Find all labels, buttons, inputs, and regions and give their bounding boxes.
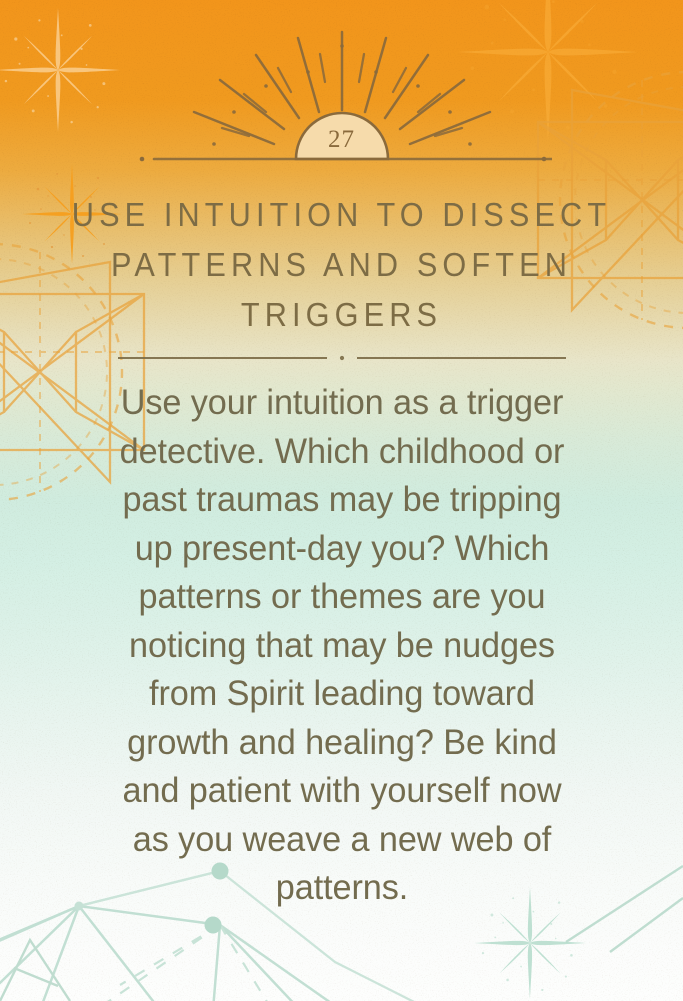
card-body: Use your intuition as a trigger detectiv… [105, 378, 580, 912]
card-title: USE INTUITION TO DISSECT PATTERNS AND SO… [61, 190, 622, 340]
title-divider [118, 355, 566, 361]
oracle-card: 27 USE INTUITION TO DISSECT PATTERNS AND… [0, 0, 683, 1001]
card-number: 27 [0, 126, 683, 154]
